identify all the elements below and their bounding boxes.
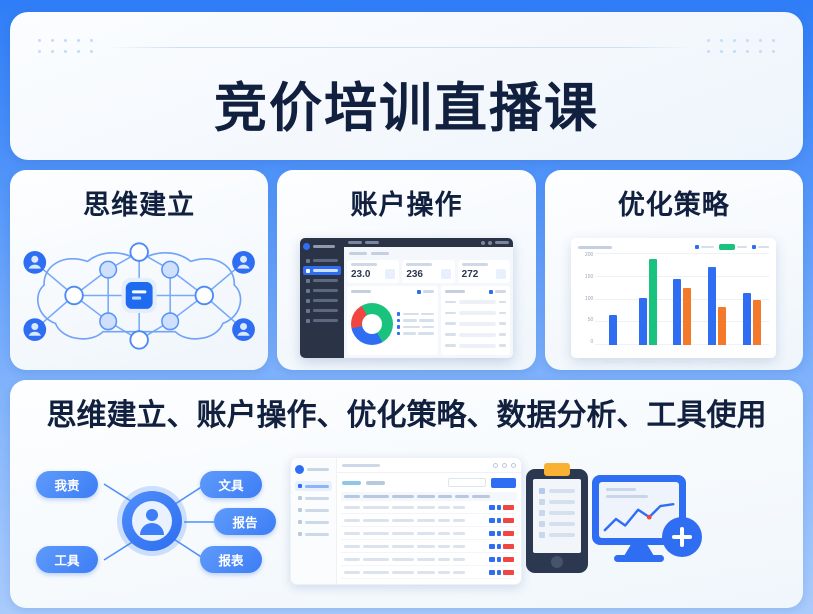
y-tick: 50 xyxy=(588,318,594,323)
y-tick: 150 xyxy=(585,275,593,280)
header-card: 竞价培训直播课 xyxy=(10,12,803,160)
header-decoration xyxy=(38,38,775,56)
feature-cards-row: 思维建立 xyxy=(10,170,803,370)
bottom-illustrations: 我责 文具 报告 工具 报表 xyxy=(18,434,795,604)
monitor-trend-chart-icon xyxy=(592,469,702,573)
feature-card-title: 账户操作 xyxy=(350,183,462,222)
table-nav-item[interactable] xyxy=(295,517,332,527)
table-tab[interactable] xyxy=(366,481,385,485)
table-row[interactable] xyxy=(341,566,517,579)
chart-y-axis: 200 150 100 50 0 xyxy=(578,253,595,354)
donut-legend xyxy=(397,312,435,335)
bar xyxy=(609,315,617,345)
bar xyxy=(649,259,657,345)
data-table xyxy=(337,492,521,584)
mindmap-node[interactable]: 报表 xyxy=(200,546,262,573)
dashboard-menu-item[interactable] xyxy=(303,316,341,325)
table-row[interactable] xyxy=(341,514,517,527)
legend-item xyxy=(719,244,747,250)
stat-card: 236 xyxy=(402,260,454,283)
feature-card-thinking[interactable]: 思维建立 xyxy=(10,170,268,370)
clip-icon xyxy=(544,463,570,476)
hbar-chart-panel xyxy=(441,286,510,356)
user-avatar-icon xyxy=(122,491,182,551)
table-row[interactable] xyxy=(341,527,517,540)
stat-icon xyxy=(385,269,395,279)
feature-card-account[interactable]: 账户操作 xyxy=(277,170,535,370)
bar-chart-screenshot: 200 150 100 50 0 xyxy=(545,222,803,370)
table-nav-item[interactable] xyxy=(295,505,332,515)
chart-legend xyxy=(695,244,769,250)
bar xyxy=(673,279,681,345)
chart-body: 200 150 100 50 0 xyxy=(578,253,769,354)
table-row[interactable] xyxy=(341,501,517,514)
table-nav-item-active[interactable] xyxy=(295,481,332,491)
mindmap-node[interactable]: 工具 xyxy=(36,546,98,573)
stat-value: 23.0 xyxy=(351,269,370,280)
bottom-title: 思维建立、账户操作、优化策略、数据分析、工具使用 xyxy=(47,390,767,434)
dashboard-menu-item[interactable] xyxy=(303,256,341,265)
mindmap-node[interactable]: 文具 xyxy=(200,471,262,498)
dashboard-menu-item[interactable] xyxy=(303,276,341,285)
stat-card: 23.0 xyxy=(347,260,399,283)
table-nav-item[interactable] xyxy=(295,529,332,539)
table-header-row xyxy=(341,492,517,501)
table-tab-active[interactable] xyxy=(342,481,361,485)
table-row[interactable] xyxy=(341,553,517,566)
poster-root: 竞价培训直播课 思维建立 xyxy=(0,0,813,614)
dot-grid-icon xyxy=(38,39,93,56)
settings-icon xyxy=(493,463,498,468)
search-input[interactable] xyxy=(448,478,486,487)
breadcrumb xyxy=(347,250,510,257)
dashboard-topbar xyxy=(344,238,513,247)
mindmap-node[interactable]: 我责 xyxy=(36,471,98,498)
feature-card-optimization[interactable]: 优化策略 200 150 xyxy=(545,170,803,370)
dot-grid-icon xyxy=(707,39,775,56)
feature-card-title: 思维建立 xyxy=(83,183,195,222)
bar-group xyxy=(735,253,770,345)
y-tick: 100 xyxy=(585,297,593,302)
legend-item xyxy=(695,245,714,249)
clipboard-checklist-icon xyxy=(526,469,588,573)
donut-chart-panel xyxy=(347,286,439,356)
y-tick: 200 xyxy=(585,253,593,258)
bar xyxy=(639,298,647,345)
mindmap-node-label: 文具 xyxy=(218,475,243,494)
dashboard-panels xyxy=(347,286,510,356)
mindmap-node-label: 我责 xyxy=(54,475,79,494)
chart-header xyxy=(578,244,769,250)
mindmap-node-label: 报表 xyxy=(218,550,243,569)
table-toolbar xyxy=(337,473,521,492)
bar xyxy=(718,307,726,345)
dashboard-menu-item[interactable] xyxy=(303,296,341,305)
mindmap-node-label: 报告 xyxy=(232,512,257,531)
bar-group xyxy=(665,253,700,345)
dashboard-logo xyxy=(303,243,341,250)
chart-title xyxy=(578,246,612,249)
home-button-icon xyxy=(551,556,563,568)
bar-chart-card: 200 150 100 50 0 xyxy=(571,238,776,358)
bar xyxy=(753,300,761,345)
bar xyxy=(708,267,716,345)
bar xyxy=(683,288,691,345)
dashboard-sidebar xyxy=(300,238,344,358)
gear-icon xyxy=(481,241,485,245)
mindmap-node[interactable]: 报告 xyxy=(214,508,276,535)
dashboard-stat-cards: 23.0 236 272 xyxy=(347,260,510,283)
divider-line xyxy=(107,47,693,48)
dashboard-menu-item[interactable] xyxy=(303,306,341,315)
stat-icon xyxy=(441,269,451,279)
table-row[interactable] xyxy=(341,540,517,553)
hbar-list xyxy=(445,297,506,352)
table-logo xyxy=(295,465,332,474)
stat-value: 272 xyxy=(462,269,479,280)
mindmap-illustration: 我责 文具 报告 工具 报表 xyxy=(24,460,286,582)
table-sidebar xyxy=(291,458,337,584)
stat-card: 272 xyxy=(458,260,510,283)
bell-icon xyxy=(488,241,492,245)
table-topbar xyxy=(337,458,521,473)
bar-group xyxy=(700,253,735,345)
donut-chart xyxy=(351,303,393,345)
bottom-summary-card: 思维建立、账户操作、优化策略、数据分析、工具使用 我责 文具 报告 工具 xyxy=(10,380,803,608)
help-icon xyxy=(502,463,507,468)
table-nav-item[interactable] xyxy=(295,493,332,503)
feature-card-title: 优化策略 xyxy=(618,183,730,222)
table-main xyxy=(337,458,521,584)
bar-group xyxy=(630,253,665,345)
primary-button[interactable] xyxy=(491,478,516,488)
dashboard-mock: 23.0 236 272 xyxy=(300,238,513,358)
dashboard-main: 23.0 236 272 xyxy=(344,238,513,358)
admin-table-screenshot xyxy=(290,457,522,585)
analytics-dashboard-screenshot: 23.0 236 272 xyxy=(277,222,535,370)
y-tick: 0 xyxy=(591,340,594,345)
dashboard-menu-item[interactable] xyxy=(303,286,341,295)
expand-icon xyxy=(511,463,516,468)
network-mindmap-illustration xyxy=(10,222,268,370)
dashboard-menu-item-active[interactable] xyxy=(303,266,341,275)
stat-icon xyxy=(496,269,506,279)
chart-plot-area xyxy=(595,253,769,354)
network-diagram-svg xyxy=(10,222,268,370)
chart-bar-groups xyxy=(595,253,769,345)
stat-value: 236 xyxy=(406,269,423,280)
plus-circle-icon[interactable] xyxy=(662,517,702,557)
bar xyxy=(743,293,751,345)
mindmap-node-label: 工具 xyxy=(54,550,79,569)
legend-item xyxy=(752,245,769,249)
page-title: 竞价培训直播课 xyxy=(10,66,803,142)
bar-group xyxy=(595,253,630,345)
